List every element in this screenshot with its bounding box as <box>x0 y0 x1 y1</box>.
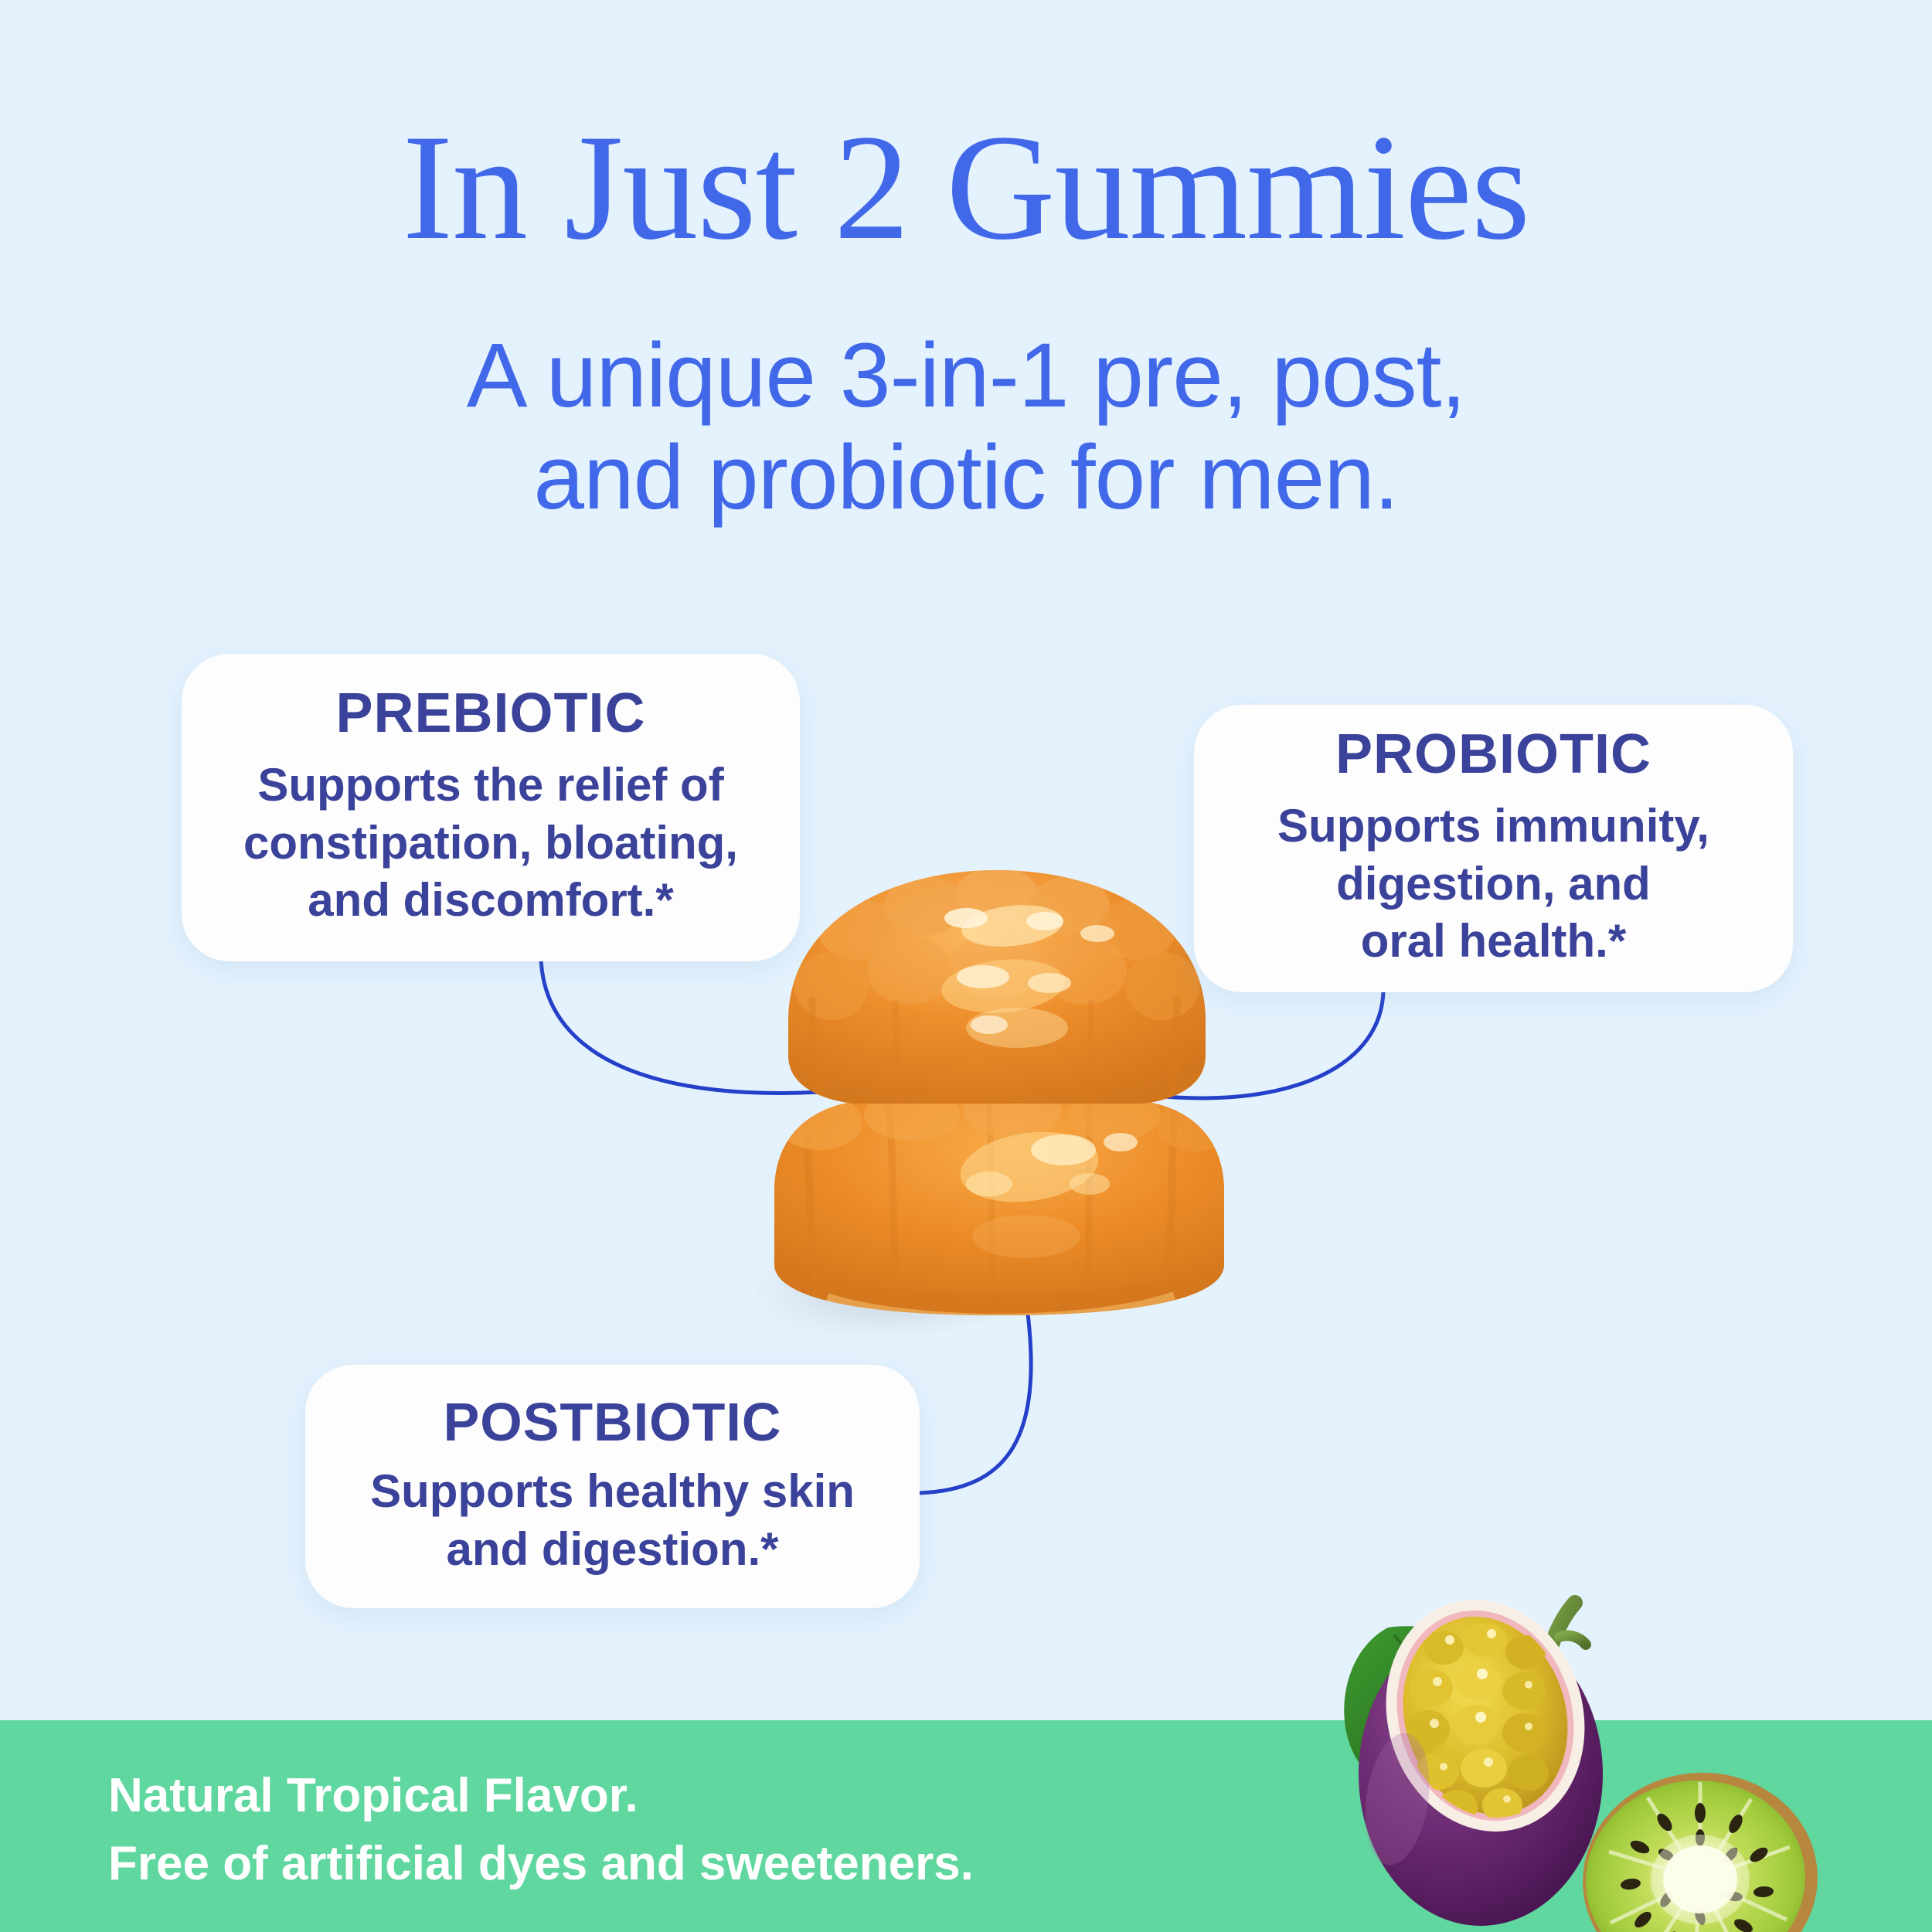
subtitle-line-1: A unique 3-in-1 pre, post, <box>0 325 1932 427</box>
info-card-postbiotic[interactable]: POSTBIOTIC Supports healthy skin and dig… <box>305 1365 920 1608</box>
card-body-postbiotic: Supports healthy skin and digestion.* <box>370 1463 855 1578</box>
flavor-banner-text: Natural Tropical Flavor. Free of artific… <box>108 1762 974 1898</box>
card-body-line: constipation, bloating, <box>243 815 738 872</box>
page-subtitle: A unique 3-in-1 pre, post, and probiotic… <box>0 325 1932 529</box>
card-body-line: digestion, and <box>1277 855 1709 913</box>
info-card-probiotic[interactable]: PROBIOTIC Supports immunity, digestion, … <box>1194 705 1793 992</box>
card-body-line: and digestion.* <box>370 1521 855 1578</box>
gummy-top <box>788 867 1206 1113</box>
infographic-canvas: In Just 2 Gummies A unique 3-in-1 pre, p… <box>0 0 1932 1932</box>
card-body-line: Supports immunity, <box>1277 798 1709 855</box>
gummy-stack-image <box>757 835 1236 1345</box>
card-body-probiotic: Supports immunity, digestion, and oral h… <box>1277 798 1709 970</box>
card-title-probiotic: PROBIOTIC <box>1335 726 1651 782</box>
kiwi-half <box>1572 1761 1828 1932</box>
info-card-prebiotic[interactable]: PREBIOTIC Supports the relief of constip… <box>182 654 800 961</box>
card-body-line: oral health.* <box>1277 913 1709 970</box>
subtitle-line-2: and probiotic for men. <box>0 427 1932 529</box>
fruit-imagery <box>1314 1592 1932 1932</box>
page-title: In Just 2 Gummies <box>0 112 1932 264</box>
card-body-line: Supports the relief of <box>243 757 738 814</box>
card-body-line: and discomfort.* <box>243 872 738 929</box>
card-body-line: Supports healthy skin <box>370 1463 855 1520</box>
card-title-prebiotic: PREBIOTIC <box>335 685 645 741</box>
card-body-prebiotic: Supports the relief of constipation, blo… <box>243 757 738 929</box>
gummy-bottom <box>774 1087 1233 1329</box>
card-title-postbiotic: POSTBIOTIC <box>444 1395 782 1449</box>
flavor-line-1: Natural Tropical Flavor. <box>108 1762 974 1830</box>
flavor-line-2: Free of artificial dyes and sweeteners. <box>108 1830 974 1898</box>
